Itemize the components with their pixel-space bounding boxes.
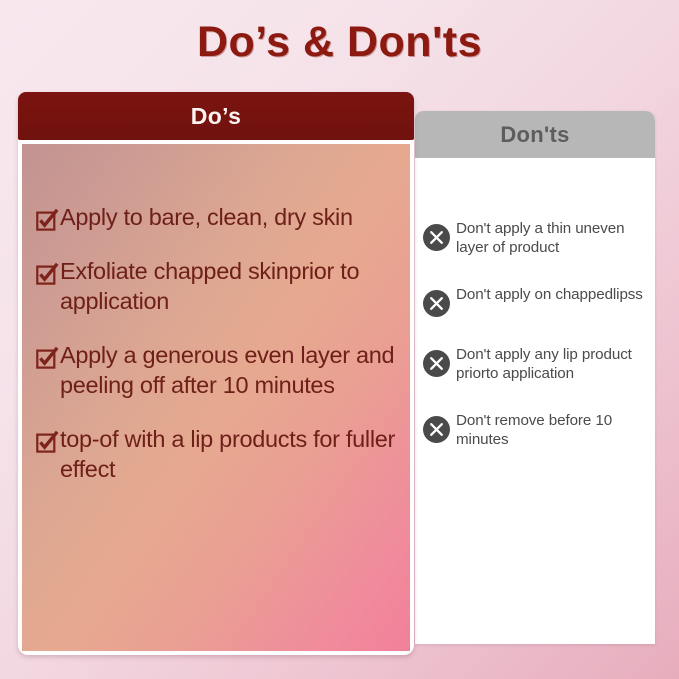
x-circle-icon (423, 290, 450, 317)
list-item-label: Apply a generous even layer and peeling … (60, 340, 396, 401)
donts-card: Don'ts Don't apply a thin uneven layer o… (415, 111, 655, 644)
dos-list: Apply to bare, clean, dry skin Exfoliate… (22, 144, 410, 651)
donts-list: Don't apply a thin uneven layer of produ… (415, 158, 655, 449)
list-item-label: Exfoliate chapped skinprior to applicati… (60, 256, 396, 317)
list-item-label: Don't remove before 10 minutes (456, 412, 645, 449)
list-item-label: Don't apply on chappedlipss (456, 286, 643, 305)
list-item: Don't apply any lip product priorto appl… (415, 346, 655, 383)
list-item-label: Don't apply any lip product priorto appl… (456, 346, 645, 383)
list-item-label: Apply to bare, clean, dry skin (60, 202, 353, 233)
list-item: Apply a generous even layer and peeling … (36, 340, 396, 401)
dos-card-header: Do’s (18, 92, 414, 140)
list-item: Don't remove before 10 minutes (415, 412, 655, 449)
x-circle-icon (423, 224, 450, 251)
list-item: Don't apply on chappedlipss (415, 286, 655, 317)
check-box-icon (36, 209, 58, 231)
list-item-label: Don't apply a thin uneven layer of produ… (456, 220, 645, 257)
list-item: Apply to bare, clean, dry skin (36, 202, 396, 233)
page-title: Do’s & Don'ts (0, 18, 679, 67)
check-box-icon (36, 431, 58, 453)
poster-canvas: Do’s & Don'ts Don'ts Don't apply a thin … (0, 0, 679, 679)
list-item-label: top-of with a lip products for fuller ef… (60, 424, 396, 485)
list-item: top-of with a lip products for fuller ef… (36, 424, 396, 485)
x-circle-icon (423, 350, 450, 377)
donts-card-header: Don'ts (415, 111, 655, 158)
x-circle-icon (423, 416, 450, 443)
list-item: Don't apply a thin uneven layer of produ… (415, 220, 655, 257)
check-box-icon (36, 263, 58, 285)
donts-header-label: Don'ts (500, 122, 569, 148)
list-item: Exfoliate chapped skinprior to applicati… (36, 256, 396, 317)
dos-card: Do’s Apply to bare, clean, dry skin (18, 92, 414, 655)
dos-header-label: Do’s (191, 103, 242, 130)
check-box-icon (36, 347, 58, 369)
